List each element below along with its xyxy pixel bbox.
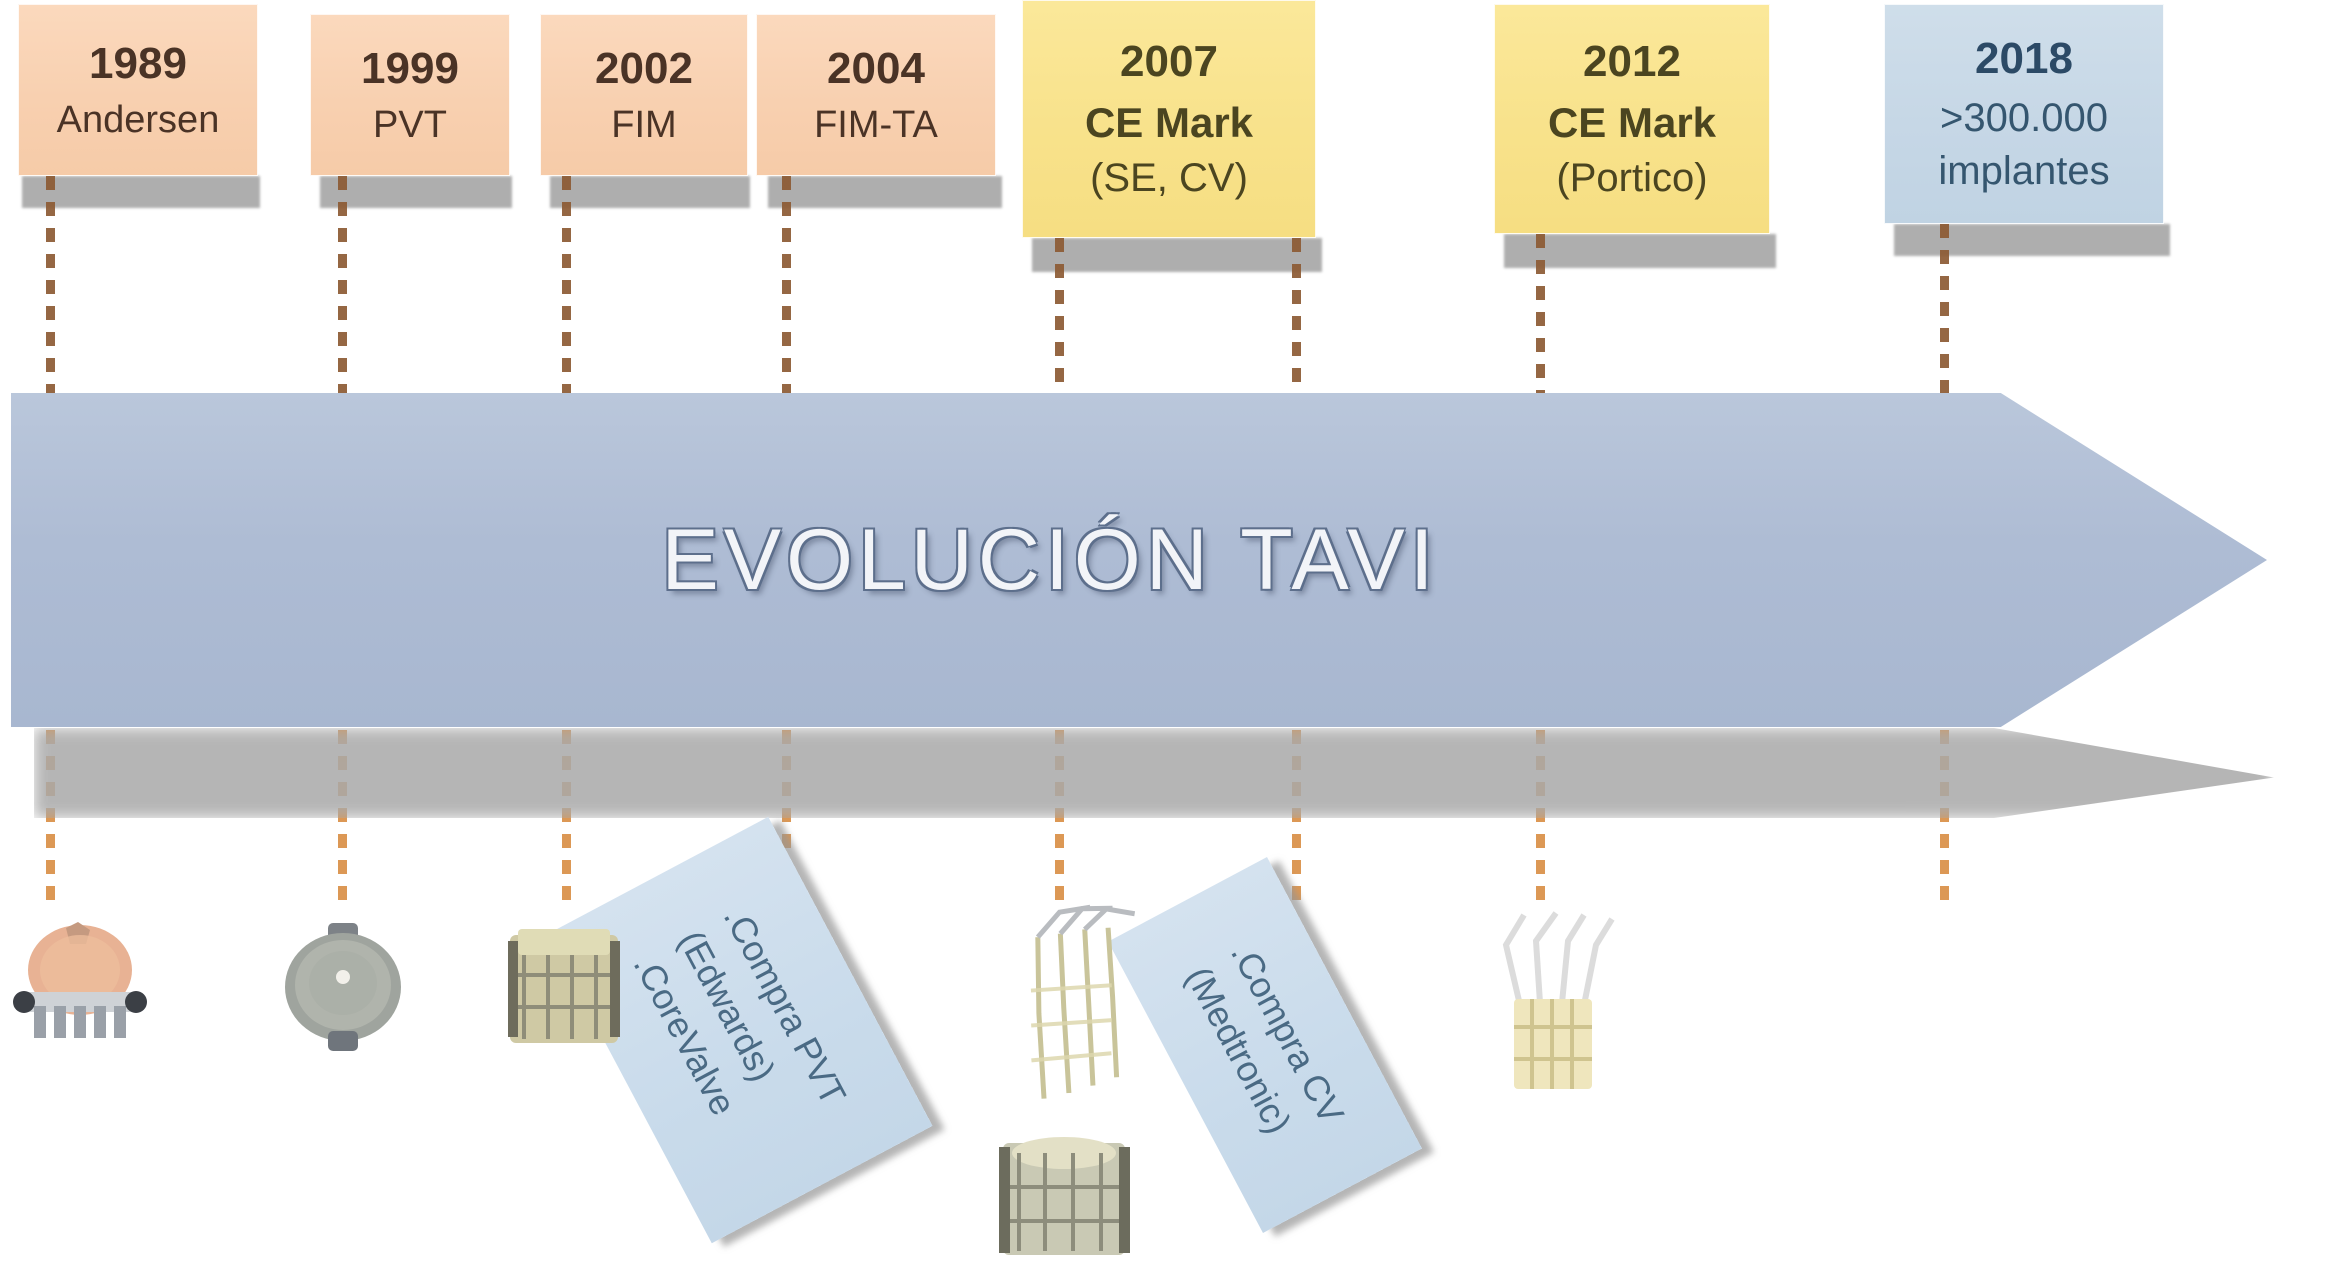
milestone-year-1989: 1989 [89,38,187,90]
milestone-label-2007-line1: CE Mark [1085,98,1253,148]
arrow-banner-shadow [34,728,2274,818]
milestone-year-2004: 2004 [827,43,925,95]
device-image-corevalve-self-expanding-valve [939,852,1220,1138]
milestone-label-2018-line2: implantes [1938,148,2109,195]
milestone-box-2007[interactable]: 2007 CE Mark (SE, CV) [1022,0,1316,238]
connector-dash-2002 [562,176,571,394]
device-image-portico-valve [1480,895,1640,1105]
connector-dash-2012 [1536,234,1545,394]
milestone-label-2007-line2: (SE, CV) [1090,155,1248,202]
device-image-andersen-prototype-valve [8,910,158,1060]
milestone-box-2004[interactable]: 2004 FIM-TA [756,14,996,176]
milestone-label-2012-line2: (Portico) [1556,155,1707,202]
milestone-box-2002[interactable]: 2002 FIM [540,14,748,176]
milestone-box-2012[interactable]: 2012 CE Mark (Portico) [1494,4,1770,234]
milestone-box-2018[interactable]: 2018 >300.000 implantes [1884,4,2164,224]
connector-dash-2018 [1940,224,1949,394]
milestone-label-1999: PVT [373,103,447,148]
device-image-sapien-balloon-expandable-valve [985,1125,1145,1275]
connector-dash-2007-left [1055,238,1064,394]
connector-dash-1999 [338,176,347,394]
box-shadow-1999 [320,176,512,208]
milestone-year-2007: 2007 [1120,36,1218,88]
connector-dash-1989 [46,176,55,394]
milestone-label-2018-line1: >300.000 [1940,95,2108,142]
milestone-label-2012-line1: CE Mark [1548,98,1716,148]
milestone-label-1989: Andersen [57,98,220,143]
box-shadow-2002 [550,176,750,208]
box-shadow-1989 [22,176,260,208]
milestone-year-2002: 2002 [595,43,693,95]
connector-dash-2004 [782,176,791,394]
device-image-cribier-edwards-valve [490,915,640,1065]
milestone-year-1999: 1999 [361,43,459,95]
box-shadow-2004 [768,176,1002,208]
connector-dash-2007-right [1292,238,1301,394]
diagram-title: EVOLUCIÓN TAVI [0,390,2100,730]
milestone-label-2004: FIM-TA [814,103,938,148]
milestone-year-2012: 2012 [1583,36,1681,88]
device-image-pvt-early-valve [270,915,420,1065]
milestone-label-2002: FIM [611,103,676,148]
box-shadow-2018 [1894,224,2170,256]
timeline-diagram: 1989 Andersen 1999 PVT 2002 FIM 2004 FIM… [0,0,2333,1272]
milestone-box-1989[interactable]: 1989 Andersen [18,4,258,176]
milestone-year-2018: 2018 [1975,33,2073,85]
milestone-box-1999[interactable]: 1999 PVT [310,14,510,176]
box-shadow-2007 [1032,238,1322,272]
